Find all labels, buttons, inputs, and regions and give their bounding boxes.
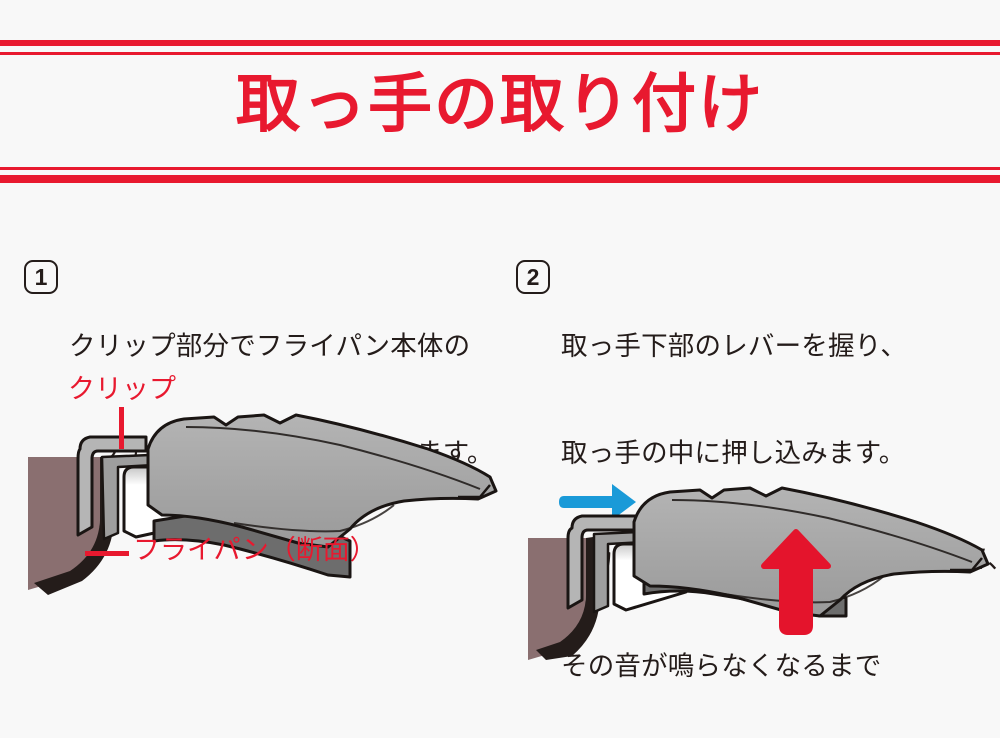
step-2-line-2: 取っ手の中に押し込みます。	[561, 436, 1000, 472]
header-rule-bottom-thin	[0, 167, 1000, 170]
handle-attach-figure	[28, 405, 498, 595]
clip-leader-line	[119, 407, 124, 449]
frying-pan-leader-line	[85, 551, 129, 556]
page-title: 取っ手の取り付け	[0, 72, 1000, 136]
header-rule-bottom-thick	[0, 175, 1000, 183]
header-rule-top-thin	[0, 52, 1000, 55]
step-1-line-1: クリップ部分でフライパン本体の	[69, 329, 494, 365]
instruction-sheet: 取っ手の取り付け 1 クリップ部分でフライパン本体の フチを挟むようにセットしま…	[0, 0, 1000, 738]
step-2-line-1: 取っ手下部のレバーを握り、	[561, 329, 1000, 365]
header-rule-top-thick	[0, 40, 1000, 46]
step-2-number: 2	[516, 260, 550, 294]
handle-lock-figure	[528, 470, 1000, 660]
clip-label: クリップ	[68, 376, 176, 403]
step-1-number: 1	[24, 260, 58, 294]
frying-pan-label: フライパン（断面）	[133, 537, 377, 564]
